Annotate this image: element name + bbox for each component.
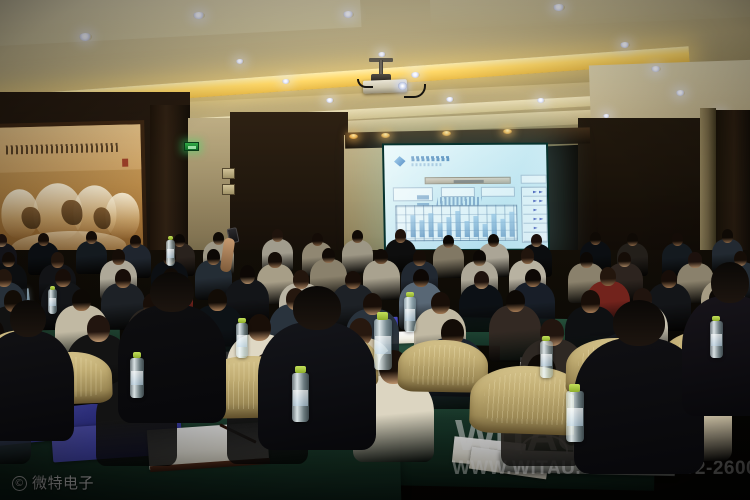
audience-member-head (130, 235, 141, 248)
audience-member-head (293, 270, 309, 288)
bottle-cap (377, 312, 388, 320)
audience-member-head (2, 252, 15, 268)
audience-member-head (345, 271, 361, 289)
watermark-copyright-text: 微特电子 (32, 476, 94, 491)
bottle-cap (50, 286, 56, 290)
audience-member-head (207, 249, 220, 265)
slide-logo-diamond-icon (391, 155, 409, 168)
downlight-icon (282, 79, 290, 84)
bottle-cap (406, 292, 413, 297)
painting-rock (93, 207, 111, 229)
audience-member-head (488, 234, 499, 247)
downlight-icon (378, 52, 386, 57)
audience-member-head (174, 234, 185, 247)
slide-logo-subtitle (411, 163, 441, 166)
bottle-label (293, 390, 307, 407)
audience-member-head (443, 235, 454, 248)
audience-member-head (627, 233, 638, 246)
presentation-slide (384, 145, 548, 250)
slide-title-bar (425, 177, 511, 184)
copyright-icon: © (12, 476, 27, 491)
foreground-attendee-head (293, 286, 340, 330)
audience-member-head (581, 290, 600, 312)
downlight-icon (343, 11, 354, 18)
audience-member-head (473, 250, 486, 266)
bottle-cap (542, 336, 550, 341)
audience-member-head (213, 232, 224, 245)
audience-member-head (240, 265, 256, 283)
watermark-copyright: © 微特电子 (12, 476, 94, 491)
bottle-label (167, 249, 175, 258)
valance-spotlight (442, 131, 451, 136)
audience-member-head (506, 290, 525, 312)
downlight-icon (651, 66, 661, 72)
audience-member-head (87, 315, 110, 342)
audience-member-head (38, 233, 49, 246)
audience-member-head (55, 269, 71, 287)
bottle-cap (168, 236, 174, 240)
audience-member-head (525, 269, 541, 287)
bottle-cap (569, 384, 580, 392)
audience-member-head (413, 250, 426, 266)
painting-red-seal (122, 159, 128, 167)
slide-panel (521, 175, 547, 184)
wall-switch-plate[interactable] (222, 168, 235, 179)
audience-member-head (431, 292, 450, 314)
audience-member-head (395, 229, 406, 242)
slide-logo-wordmark (411, 156, 449, 161)
audience-member-head (72, 289, 91, 311)
foreground-attendee-head (150, 272, 193, 312)
audience-member-head (208, 289, 227, 311)
audience-member-head (590, 232, 601, 245)
foreground-attendee (0, 331, 74, 441)
downlight-icon (326, 98, 334, 103)
painting-rock (21, 206, 40, 229)
audience-member-head (661, 270, 677, 288)
slide-bar-chart (408, 206, 527, 241)
downlight-icon (193, 12, 205, 19)
audience-member-head (374, 249, 387, 265)
slide-panel (481, 187, 515, 197)
wall-switch-plate[interactable] (222, 184, 235, 195)
audience-member-head (268, 252, 281, 268)
audience-member-head (272, 229, 283, 242)
bottle-label (131, 371, 143, 385)
conference-room-photo: WITAU ® 微特 WWW.WITAU.COM 400-002-2600 © … (0, 0, 750, 500)
audience-member-head (51, 252, 64, 268)
valance-spotlight (503, 129, 512, 134)
bottle-label (405, 309, 415, 321)
slide-data-table (395, 205, 518, 242)
bottle-cap (295, 366, 306, 373)
downlight-icon (236, 59, 244, 64)
downlight-icon (537, 98, 545, 103)
downlight-icon (553, 4, 565, 11)
downlight-icon (79, 33, 92, 41)
valance-spotlight (349, 134, 358, 139)
bottle-cap (712, 316, 720, 321)
foreground-attendee-head (10, 300, 47, 337)
painting-rock (61, 200, 82, 226)
foreground-attendee (258, 322, 376, 450)
bottle-cap (238, 318, 245, 323)
downlight-icon (411, 72, 420, 78)
downlight-icon (446, 97, 454, 102)
audience-member-head (688, 252, 701, 268)
audience-member-head (722, 229, 733, 242)
foreground-attendee-head (711, 262, 749, 303)
audience-member-head (112, 249, 125, 265)
foreground-attendee-head (613, 300, 665, 346)
projection-screen (382, 143, 550, 252)
audience-member-head (312, 233, 323, 246)
audience-member-head (521, 248, 534, 264)
downlight-icon (620, 42, 630, 48)
valance-spotlight (381, 133, 390, 138)
audience-member-head (600, 267, 616, 285)
slide-panel (441, 187, 475, 197)
audience-member-head (474, 271, 490, 289)
audience-member-head (580, 252, 593, 268)
downlight-icon (676, 90, 685, 96)
audience-member-head (248, 314, 271, 341)
bottle-label (237, 335, 247, 347)
exit-sign-icon (184, 142, 199, 151)
bottle-label (375, 336, 390, 353)
bottle-cap (133, 352, 142, 358)
bottle-label (567, 408, 582, 425)
bottle-label (711, 334, 722, 347)
projection-screen-surface (384, 145, 548, 250)
audience-member-head (115, 269, 131, 287)
bottle-label (49, 298, 57, 306)
wall-pillar-right (700, 108, 716, 258)
bottle-label (541, 354, 552, 367)
